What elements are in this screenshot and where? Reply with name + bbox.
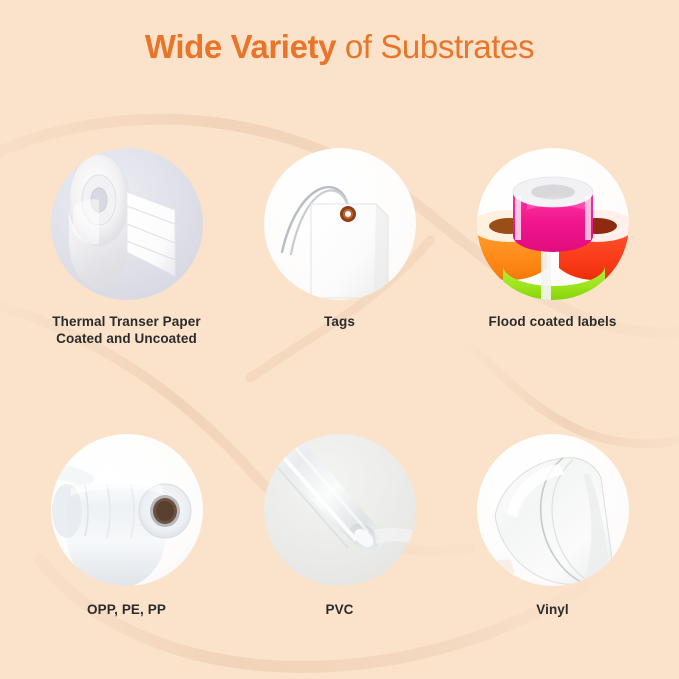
title-light: of Substrates — [336, 28, 534, 65]
substrate-item-pvc[interactable]: PVC — [233, 434, 446, 619]
thermal-paper-roll-image — [51, 148, 203, 300]
caption-line-1: PVC — [325, 602, 353, 617]
substrate-caption: OPP, PE, PP — [87, 602, 166, 619]
stretch-film-roll-image — [51, 434, 203, 586]
vinyl-sheet-image — [477, 434, 629, 586]
substrate-caption: Flood coated labels — [489, 314, 617, 331]
caption-line-1: OPP, PE, PP — [87, 602, 166, 617]
substrate-caption: Thermal Transer Paper Coated and Uncoate… — [52, 314, 200, 348]
substrate-caption: Tags — [324, 314, 355, 331]
caption-line-1: Flood coated labels — [489, 314, 617, 329]
substrate-item-flood-coated-labels[interactable]: Flood coated labels — [446, 148, 659, 331]
caption-line-2: Coated and Uncoated — [52, 331, 200, 348]
poster-canvas: Wide Variety of Substrates — [0, 0, 679, 679]
substrate-item-tags[interactable]: Tags — [233, 148, 446, 331]
title-strong: Wide Variety — [145, 28, 336, 65]
substrate-item-vinyl[interactable]: Vinyl — [446, 434, 659, 619]
tag-image — [264, 148, 416, 300]
page-title: Wide Variety of Substrates — [0, 28, 679, 66]
caption-line-1: Thermal Transer Paper — [52, 314, 200, 329]
substrate-caption: PVC — [325, 602, 353, 619]
caption-line-1: Vinyl — [536, 602, 569, 617]
pvc-sheet-image — [264, 434, 416, 586]
substrate-caption: Vinyl — [536, 602, 569, 619]
flood-coated-labels-image — [477, 148, 629, 300]
substrate-grid: Thermal Transer Paper Coated and Uncoate… — [0, 148, 679, 619]
substrate-row-2: OPP, PE, PP — [0, 434, 679, 619]
substrate-row-1: Thermal Transer Paper Coated and Uncoate… — [0, 148, 679, 348]
substrate-item-thermal-transfer-paper[interactable]: Thermal Transer Paper Coated and Uncoate… — [20, 148, 233, 348]
substrate-item-opp-pe-pp[interactable]: OPP, PE, PP — [20, 434, 233, 619]
caption-line-1: Tags — [324, 314, 355, 329]
